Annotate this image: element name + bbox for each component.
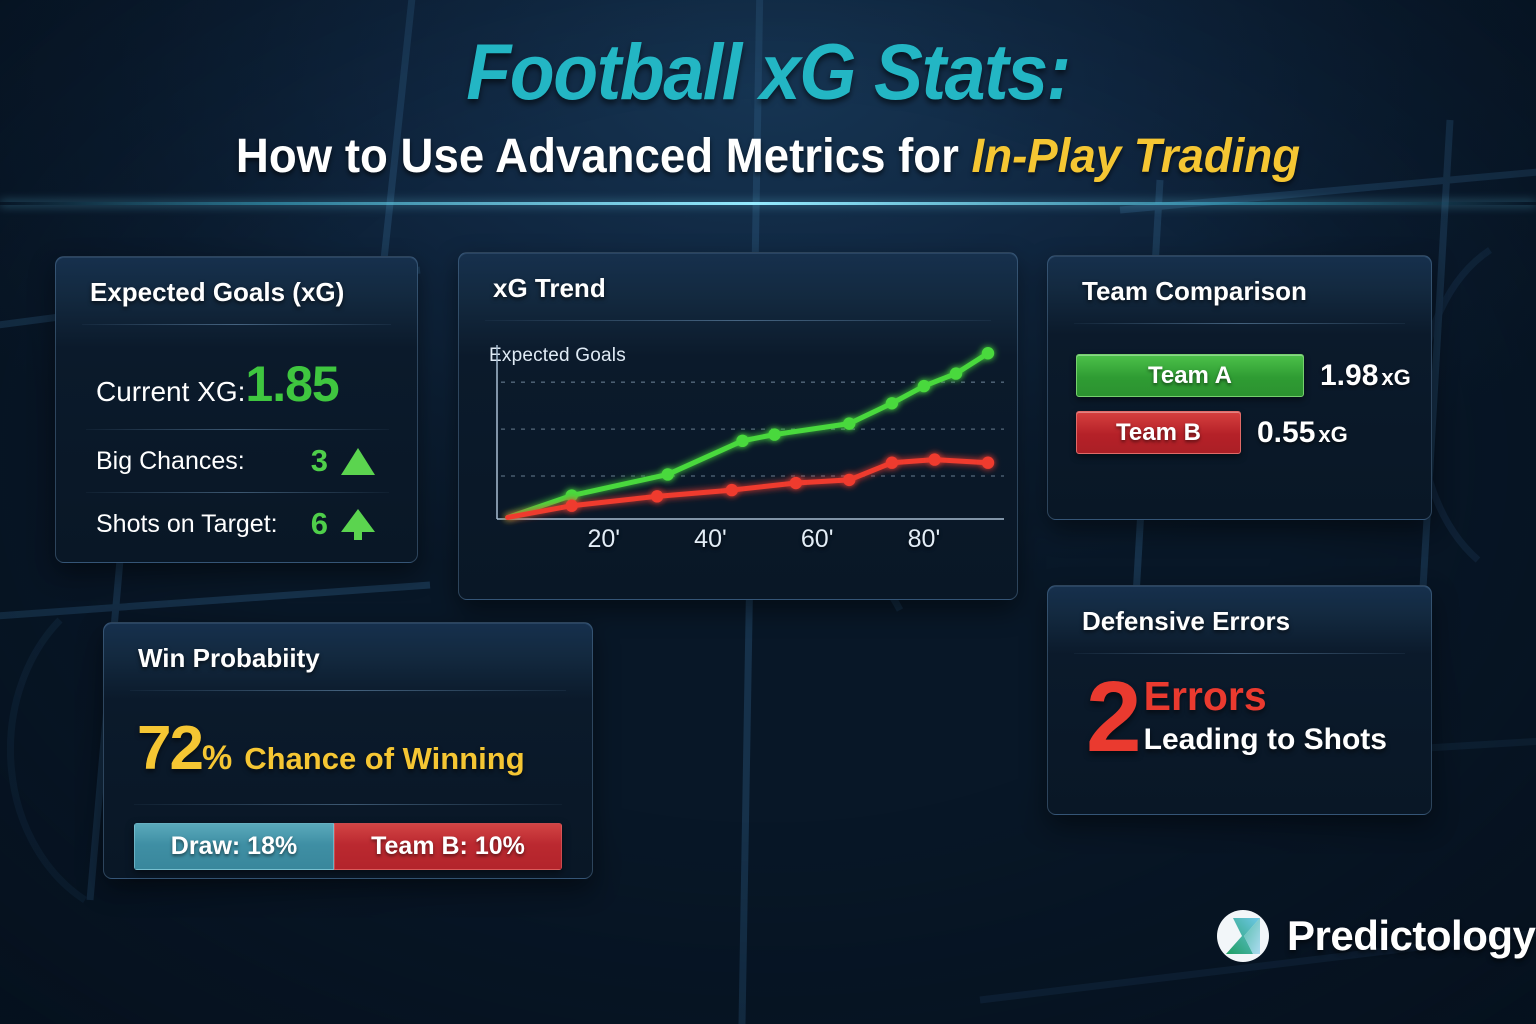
defensive-errors-count: 2 <box>1086 670 1138 765</box>
x-axis-tick: 20' <box>587 525 620 554</box>
win-probability-percent: 72 <box>137 713 202 784</box>
current-xg-row: Current XG: 1.85 <box>56 325 417 413</box>
big-chances-label: Big Chances: <box>96 447 245 476</box>
team-a-value-group: 1.98xG <box>1320 359 1411 393</box>
team-comparison-card: Team Comparison Team A 1.98xG Team B 0.5… <box>1047 255 1432 520</box>
defensive-errors-unit: Errors <box>1144 676 1387 717</box>
triangle-up-icon <box>341 448 375 475</box>
brand-name: Predictology <box>1287 912 1535 960</box>
x-axis-tick: 80' <box>908 525 941 554</box>
page-subtitle-plain: How to Use Advanced Metrics for <box>236 130 972 183</box>
team-b-unit: xG <box>1318 422 1347 447</box>
expected-goals-card: Expected Goals (xG) Current XG: 1.85 Big… <box>55 256 418 563</box>
page-subtitle: How to Use Advanced Metrics for In-Play … <box>38 133 1497 181</box>
big-chances-row: Big Chances: 3 <box>56 430 417 492</box>
big-chances-value-group: 3 <box>311 443 375 479</box>
current-xg-value: 1.85 <box>245 355 338 413</box>
defensive-errors-body: 2 Errors Leading to Shots <box>1048 654 1431 765</box>
header: Football xG Stats: How to Use Advanced M… <box>0 0 1536 181</box>
arrow-up-icon <box>341 509 375 540</box>
team-a-bar: Team A <box>1076 354 1304 397</box>
shots-on-target-value-group: 6 <box>311 506 375 542</box>
page-title: Football xG Stats: <box>54 32 1482 111</box>
win-probability-caption: Chance of Winning <box>244 741 524 777</box>
card-rule <box>485 320 991 321</box>
xg-trend-card: xG Trend Expected Goals 20'40'60'80' <box>458 252 1018 600</box>
win-probability-bar: Draw: 18% Team B: 10% <box>134 823 562 870</box>
defensive-errors-card: Defensive Errors 2 Errors Leading to Sho… <box>1047 585 1432 815</box>
page-subtitle-highlight: In-Play Trading <box>972 130 1301 183</box>
shots-on-target-label: Shots on Target: <box>96 510 278 539</box>
expected-goals-title: Expected Goals (xG) <box>56 257 417 308</box>
defensive-errors-text-group: Errors Leading to Shots <box>1144 676 1387 759</box>
current-xg-label: Current XG: <box>96 376 245 408</box>
team-comparison-rows: Team A 1.98xG Team B 0.55xG <box>1048 324 1431 454</box>
team-row: Team A 1.98xG <box>1048 354 1431 397</box>
x-axis-tick: 60' <box>801 525 834 554</box>
percent-symbol: % <box>202 739 232 778</box>
big-chances-value: 3 <box>311 443 328 479</box>
x-axis-tick: 40' <box>694 525 727 554</box>
team-comparison-title: Team Comparison <box>1048 256 1431 307</box>
team-row: Team B 0.55xG <box>1048 411 1431 454</box>
defensive-errors-title: Defensive Errors <box>1048 586 1431 637</box>
shots-on-target-value: 6 <box>311 506 328 542</box>
brand-logo: Predictology <box>1215 908 1535 964</box>
card-rule <box>134 804 562 805</box>
win-probability-card: Win Probabiity 72 % Chance of Winning Dr… <box>103 622 593 879</box>
predictology-x-icon <box>1215 908 1271 964</box>
team-b-bar: Team B <box>1076 411 1241 454</box>
header-divider <box>0 202 1536 205</box>
team-b-segment: Team B: 10% <box>334 823 562 870</box>
draw-segment: Draw: 18% <box>134 823 334 870</box>
team-b-value: 0.55 <box>1257 416 1315 449</box>
team-a-unit: xG <box>1381 365 1410 390</box>
win-probability-main: 72 % Chance of Winning <box>104 691 592 784</box>
win-probability-title: Win Probabiity <box>104 623 592 674</box>
xg-trend-title: xG Trend <box>459 253 1017 304</box>
defensive-errors-caption: Leading to Shots <box>1144 721 1387 759</box>
shots-on-target-row: Shots on Target: 6 <box>56 493 417 555</box>
team-b-value-group: 0.55xG <box>1257 416 1348 450</box>
team-a-value: 1.98 <box>1320 359 1378 392</box>
xg-trend-chart: Expected Goals 20'40'60'80' <box>459 329 1019 579</box>
